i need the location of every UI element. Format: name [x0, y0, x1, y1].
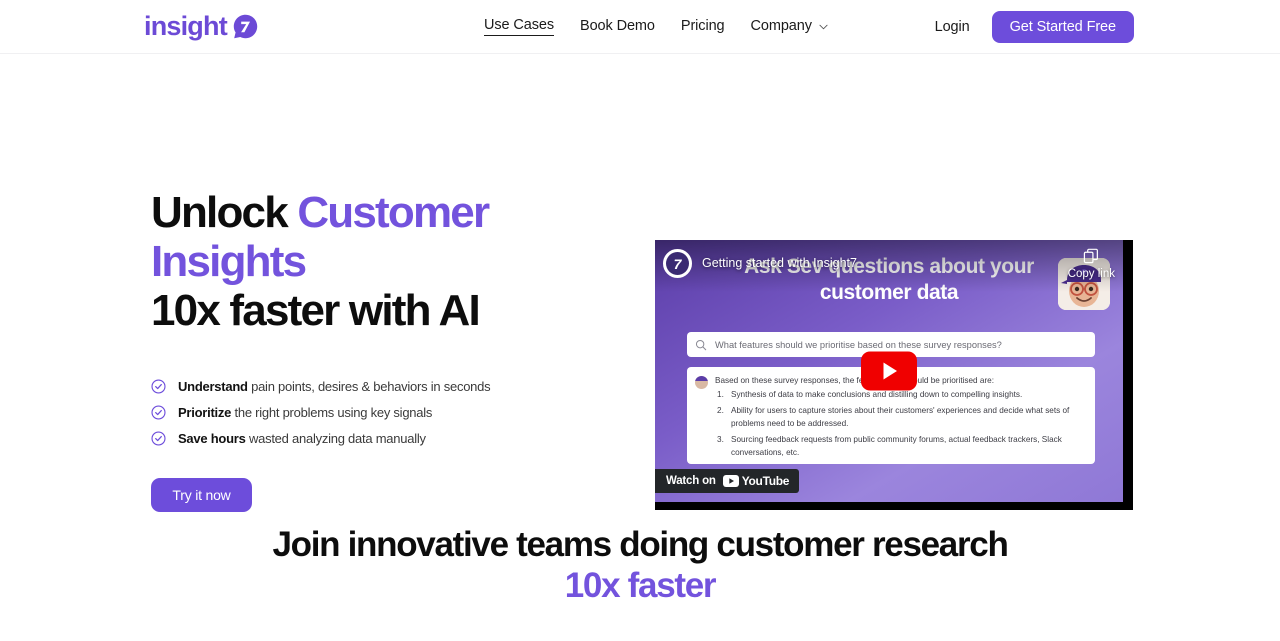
bullet-rest: the right problems using key signals — [231, 405, 432, 420]
copy-link-button[interactable]: Copy link — [1068, 248, 1115, 280]
youtube-wordmark: YouTube — [742, 474, 789, 488]
list-item: Save hours wasted analyzing data manuall… — [151, 431, 621, 446]
social-proof-section: Join innovative teams doing customer res… — [0, 525, 1280, 605]
chevron-down-icon — [819, 18, 828, 34]
social-proof-accent: 10x faster — [0, 566, 1280, 605]
main-navigation: Use Cases Book Demo Pricing Company — [484, 17, 828, 36]
answer-avatar — [695, 376, 708, 389]
video-thumbnail: Ask Sev questions about your customer da… — [655, 240, 1123, 502]
header-actions: Login Get Started Free — [935, 11, 1134, 43]
nav-item-company[interactable]: Company — [751, 18, 828, 36]
watch-on-label: Watch on — [666, 475, 716, 487]
check-circle-icon — [151, 431, 166, 446]
page-title: Unlock Customer Insights 10x faster with… — [151, 189, 621, 335]
nav-item-use-cases[interactable]: Use Cases — [484, 17, 554, 36]
search-icon — [695, 339, 707, 351]
social-proof-heading: Join innovative teams doing customer res… — [0, 525, 1280, 564]
bullet-strong: Prioritize — [178, 405, 231, 420]
video-title[interactable]: Getting started with Insight7 — [702, 256, 857, 270]
bullet-rest: wasted analyzing data manually — [246, 431, 426, 446]
play-button[interactable] — [861, 352, 917, 391]
site-header: insight Use Cases Book Demo Pricing Comp… — [0, 0, 1280, 54]
channel-badge-digit: 7 — [666, 252, 689, 275]
list-item: Synthesis of data to make conclusions an… — [715, 389, 1085, 402]
video-top-bar: 7 Getting started with Insight7 — [655, 240, 1123, 292]
copy-link-label: Copy link — [1068, 268, 1115, 280]
hero-copy: Unlock Customer Insights 10x faster with… — [151, 189, 621, 512]
list-item: Understand pain points, desires & behavi… — [151, 379, 621, 394]
answer-list: Synthesis of data to make conclusions an… — [715, 389, 1085, 460]
nav-item-pricing[interactable]: Pricing — [681, 18, 725, 36]
check-circle-icon — [151, 379, 166, 394]
logo-wordmark: insight — [144, 13, 227, 40]
try-it-now-button[interactable]: Try it now — [151, 478, 252, 512]
get-started-free-button[interactable]: Get Started Free — [992, 11, 1134, 43]
hero-section: Unlock Customer Insights 10x faster with… — [0, 54, 1280, 494]
feature-bullet-list: Understand pain points, desires & behavi… — [151, 379, 621, 446]
headline-line-2: 10x faster with AI — [151, 286, 479, 335]
list-item: Ability for users to capture stories abo… — [715, 405, 1085, 430]
list-item: Sourcing feedback requests from public c… — [715, 434, 1085, 459]
logo[interactable]: insight — [144, 13, 258, 40]
video-search-text: What features should we prioritise based… — [715, 340, 1002, 350]
bullet-text: Prioritize the right problems using key … — [178, 405, 432, 420]
channel-badge-icon[interactable]: 7 — [663, 249, 692, 278]
login-link[interactable]: Login — [935, 19, 970, 35]
bullet-text: Save hours wasted analyzing data manuall… — [178, 431, 426, 446]
nav-item-book-demo[interactable]: Book Demo — [580, 18, 655, 36]
check-circle-icon — [151, 405, 166, 420]
list-item: Prioritize the right problems using key … — [151, 405, 621, 420]
copy-icon — [1083, 248, 1100, 265]
bullet-strong: Save hours — [178, 431, 246, 446]
youtube-play-icon — [723, 475, 739, 487]
bullet-rest: pain points, desires & behaviors in seco… — [248, 379, 491, 394]
youtube-logo: YouTube — [723, 474, 789, 488]
bullet-text: Understand pain points, desires & behavi… — [178, 379, 490, 394]
bullet-strong: Understand — [178, 379, 248, 394]
logo-seven-icon — [233, 14, 258, 39]
nav-item-company-label: Company — [751, 18, 812, 34]
watch-on-youtube-button[interactable]: Watch on YouTube — [655, 469, 799, 493]
video-embed[interactable]: Ask Sev questions about your customer da… — [655, 240, 1133, 510]
headline-part-1: Unlock — [151, 188, 297, 237]
